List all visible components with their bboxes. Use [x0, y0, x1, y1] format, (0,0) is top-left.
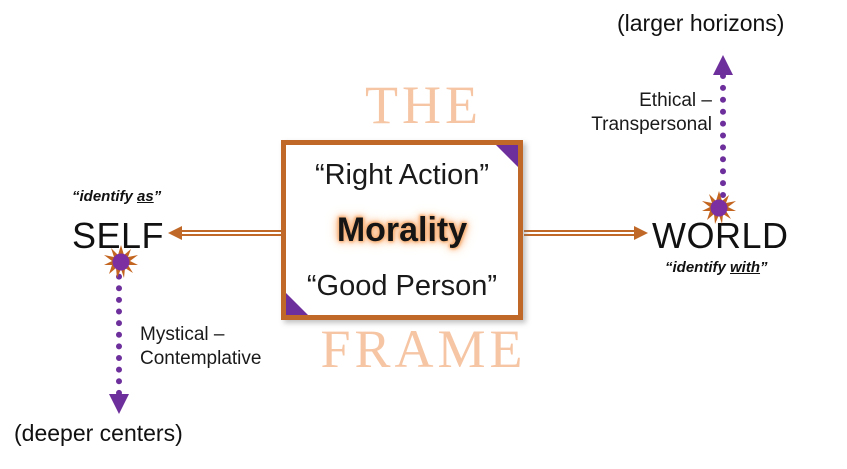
- starburst-self-icon: [103, 244, 139, 280]
- arrow-right-shaft: [524, 230, 636, 236]
- label-mystical-contemplative: Mystical – Contemplative: [140, 323, 330, 372]
- arrow-left-head-icon: [168, 226, 182, 240]
- caption-larger-horizons: (larger horizons): [617, 10, 784, 37]
- caption-identify-with-underlined: with: [730, 259, 760, 276]
- watermark-word-frame: FRAME: [0, 322, 847, 376]
- caption-identify-as-prefix: “identify: [72, 188, 137, 205]
- arrow-down-head-icon: [109, 394, 129, 414]
- label-mystical-line-1: Mystical –: [140, 323, 330, 347]
- morality-frame-box: “Right Action” Morality “Good Person”: [281, 140, 523, 320]
- arrow-left-shaft: [180, 230, 282, 236]
- box-text-right-action: “Right Action”: [286, 159, 518, 192]
- caption-identify-as-underlined: as: [137, 188, 154, 205]
- caption-identify-with-prefix: “identify: [665, 259, 730, 276]
- corner-triangle-bottom-left-icon: [286, 293, 308, 315]
- arrow-left-to-self: [168, 226, 282, 240]
- arrow-down-deeper-centers: [114, 262, 124, 414]
- box-text-good-person: “Good Person”: [286, 270, 518, 303]
- arrow-up-larger-horizons: [718, 55, 728, 210]
- arrow-down-dotted-shaft: [116, 262, 122, 396]
- arrow-right-to-world: [524, 226, 648, 240]
- label-ethical-line-2: Transpersonal: [564, 113, 712, 137]
- label-ethical-line-1: Ethical –: [564, 89, 712, 113]
- caption-identify-as: “identify as”: [72, 188, 161, 205]
- box-text-morality: Morality: [286, 211, 518, 250]
- label-ethical-transpersonal: Ethical – Transpersonal: [564, 89, 712, 138]
- caption-identify-with-suffix: ”: [760, 259, 768, 276]
- caption-identify-with: “identify with”: [665, 259, 768, 276]
- arrow-right-head-icon: [634, 226, 648, 240]
- caption-identify-as-suffix: ”: [154, 188, 162, 205]
- arrow-up-head-icon: [713, 55, 733, 75]
- caption-deeper-centers: (deeper centers): [14, 420, 183, 447]
- corner-triangle-top-right-icon: [496, 145, 518, 167]
- diagram-canvas: THE FRAME “Right Action” Morality “Good …: [0, 0, 847, 469]
- label-mystical-line-2: Contemplative: [140, 347, 330, 371]
- starburst-world-icon: [701, 190, 737, 226]
